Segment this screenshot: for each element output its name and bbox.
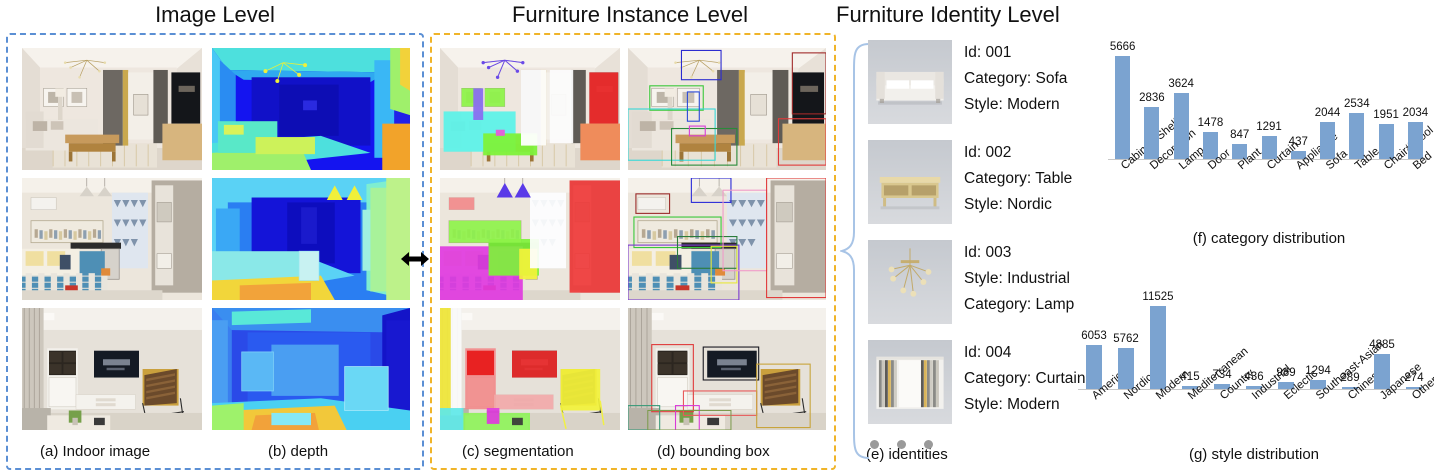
panel-bounding-box-row1 xyxy=(628,48,826,170)
bar-value-label: 11525 xyxy=(1132,291,1184,303)
caption-a: (a) Indoor image xyxy=(40,443,150,460)
identity-thumbnail-lamp xyxy=(868,240,952,324)
pagination-dot[interactable] xyxy=(924,440,933,449)
chart-caption-g: (g) style distribution xyxy=(1078,446,1430,463)
panel-depth-row1 xyxy=(212,48,410,170)
caption-c: (c) segmentation xyxy=(462,443,574,460)
identity-details: Id: 002 Category: Table Style: Nordic xyxy=(964,140,1072,218)
identity-line-2: Category: Sofa xyxy=(964,66,1067,92)
chart-style-distribution: 6053American5762Nordic11525Modern415Medi… xyxy=(1078,286,1430,471)
panel-bounding-box-row2 xyxy=(628,178,826,300)
identity-item[interactable]: Id: 001 Category: Sofa Style: Modern xyxy=(868,40,1138,132)
panel-segmentation-row2 xyxy=(440,178,620,300)
bar-value-label: 1478 xyxy=(1184,117,1236,129)
panel-indoor-image-row1 xyxy=(22,48,202,170)
chart-category-distribution: 5666Cabinet#Shelf2836Decoration3624Lamp1… xyxy=(1108,34,1430,252)
panel-depth-row3 xyxy=(212,308,410,430)
bar xyxy=(1115,56,1130,159)
identity-level-title: Furniture Identity Level xyxy=(836,2,1136,28)
identity-line-3: Style: Modern xyxy=(964,392,1085,418)
identity-details: Id: 004 Category: Curtain Style: Modern xyxy=(964,340,1085,418)
caption-d: (d) bounding box xyxy=(657,443,770,460)
plot-area: 5666Cabinet#Shelf2836Decoration3624Lamp1… xyxy=(1108,34,1430,164)
bar xyxy=(1320,122,1335,159)
identity-thumbnail-curtain xyxy=(868,340,952,424)
identity-thumbnail-table xyxy=(868,140,952,224)
identity-thumbnail-sofa xyxy=(868,40,952,124)
curly-brace-icon xyxy=(840,42,870,460)
pagination-dots[interactable] xyxy=(870,436,951,454)
panel-segmentation-row3 xyxy=(440,308,620,430)
identity-details: Id: 003 Style: Industrial Category: Lamp xyxy=(964,240,1074,318)
bar-value-label: 3624 xyxy=(1155,78,1207,90)
identity-line-2: Category: Curtain xyxy=(964,366,1085,392)
panel-depth-row2 xyxy=(212,178,410,300)
identity-item[interactable]: Id: 002 Category: Table Style: Nordic xyxy=(868,140,1138,232)
identity-line-3: Style: Modern xyxy=(964,92,1067,118)
bar xyxy=(1144,107,1159,159)
bar-value-label: 2836 xyxy=(1126,92,1178,104)
identity-id: Id: 002 xyxy=(964,140,1072,166)
caption-b: (b) depth xyxy=(268,443,328,460)
panel-bounding-box-row3 xyxy=(628,308,826,430)
instance-level-title: Furniture Instance Level xyxy=(425,2,835,28)
panel-segmentation-row1 xyxy=(440,48,620,170)
plot-area: 6053American5762Nordic11525Modern415Medi… xyxy=(1078,286,1430,394)
panel-indoor-image-row3 xyxy=(22,308,202,430)
bar-value-label: 2034 xyxy=(1389,107,1434,119)
identity-line-3: Category: Lamp xyxy=(964,292,1074,318)
identity-line-3: Style: Nordic xyxy=(964,192,1072,218)
identity-line-2: Category: Table xyxy=(964,166,1072,192)
bar xyxy=(1118,348,1134,389)
bar-value-label: 1291 xyxy=(1243,121,1295,133)
identity-id: Id: 003 xyxy=(964,240,1074,266)
identity-id: Id: 001 xyxy=(964,40,1067,66)
identity-details: Id: 001 Category: Sofa Style: Modern xyxy=(964,40,1067,118)
image-level-title: Image Level xyxy=(0,2,430,28)
chart-caption-f: (f) category distribution xyxy=(1108,230,1430,247)
bar-value-label: 4885 xyxy=(1356,339,1408,351)
panel-indoor-image-row2 xyxy=(22,178,202,300)
identity-line-2: Style: Industrial xyxy=(964,266,1074,292)
bar-value-label: 5762 xyxy=(1100,333,1152,345)
bar-value-label: 5666 xyxy=(1097,41,1149,53)
pagination-dot[interactable] xyxy=(897,440,906,449)
pagination-dot[interactable] xyxy=(870,440,879,449)
identity-id: Id: 004 xyxy=(964,340,1085,366)
bar xyxy=(1086,345,1102,389)
bidirectional-arrow-icon xyxy=(400,248,430,270)
